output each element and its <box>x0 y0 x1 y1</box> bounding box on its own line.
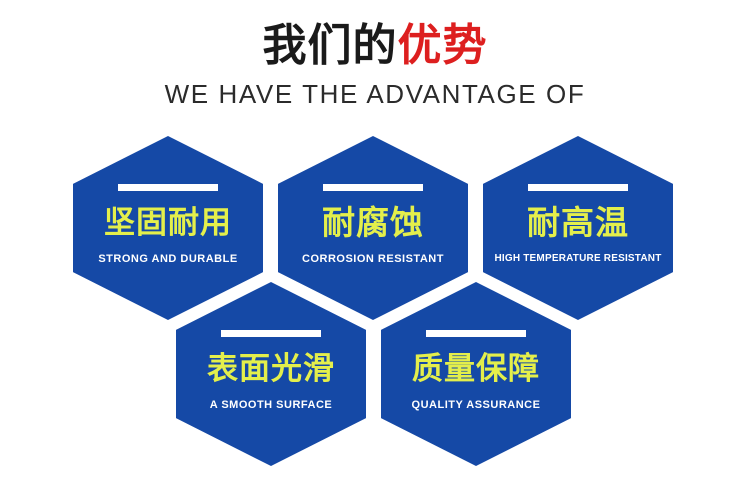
advantage-card-a-smooth-surface[interactable]: 表面光滑 A SMOOTH SURFACE <box>176 282 366 466</box>
advantage-card-high-temperature-resistant[interactable]: 耐高温 HIGH TEMPERATURE RESISTANT <box>483 136 673 320</box>
advantage-card-quality-assurance[interactable]: 质量保障 QUALITY ASSURANCE <box>381 282 571 466</box>
divider-rule-icon <box>323 184 423 191</box>
divider-rule-icon <box>221 330 321 337</box>
divider-rule-icon <box>118 184 218 191</box>
divider-rule-icon <box>426 330 526 337</box>
advantage-card-strong-and-durable[interactable]: 坚固耐用 STRONG AND DURABLE <box>73 136 263 320</box>
advantage-label-cn: 耐高温 <box>527 205 629 241</box>
divider-rule-icon <box>528 184 628 191</box>
advantage-label-cn: 坚固耐用 <box>104 205 232 241</box>
advantage-label-cn: 表面光滑 <box>207 351 335 387</box>
advantage-label-en: CORROSION RESISTANT <box>302 252 444 266</box>
advantage-label-en: A SMOOTH SURFACE <box>210 398 333 412</box>
advantage-infographic: 我们的优势 WE HAVE THE ADVANTAGE OF 坚固耐用 STRO… <box>0 0 750 500</box>
advantage-label-en: STRONG AND DURABLE <box>98 252 237 266</box>
advantage-card-corrosion-resistant[interactable]: 耐腐蚀 CORROSION RESISTANT <box>278 136 468 320</box>
advantage-label-en: QUALITY ASSURANCE <box>412 398 541 412</box>
advantage-hex-grid: 坚固耐用 STRONG AND DURABLE 耐腐蚀 CORROSION RE… <box>0 0 750 500</box>
advantage-label-cn: 耐腐蚀 <box>322 205 424 241</box>
advantage-label-en: HIGH TEMPERATURE RESISTANT <box>494 252 661 266</box>
advantage-label-cn: 质量保障 <box>412 351 540 387</box>
